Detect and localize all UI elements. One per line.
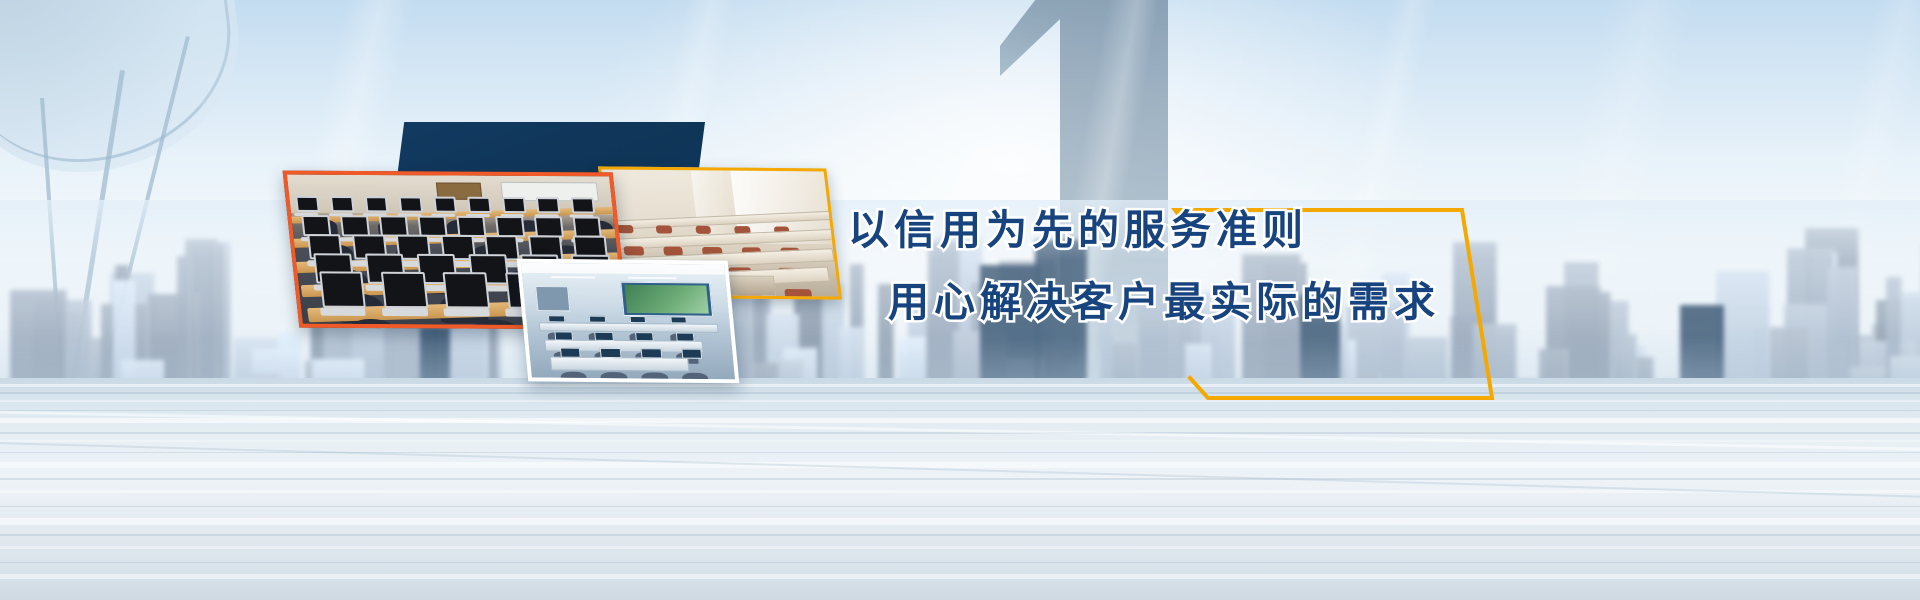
monitor [296, 196, 320, 212]
monitor [418, 216, 448, 237]
headline-line-1: 以信用为先的服务准则 [848, 210, 1308, 251]
headline-block: 以信用为先的服务准则 用心解决客户最实际的需求 [840, 196, 1540, 366]
desk-monitor [630, 316, 647, 323]
desk-monitor [635, 333, 654, 342]
ceiling-light [551, 276, 596, 279]
headline-line-2: 用心解决客户最实际的需求 [888, 282, 1440, 323]
monitor [302, 215, 332, 236]
monitor [495, 216, 525, 237]
plaza-stripe [0, 518, 1920, 525]
plaza-shadow-line [0, 392, 1920, 394]
keyboard [382, 308, 428, 316]
plaza-shadow-line [0, 562, 1920, 563]
photo-collage [290, 110, 850, 400]
plaza-stripe [0, 546, 1920, 549]
classroom-chair [624, 246, 644, 256]
desk-monitor [670, 317, 687, 324]
ceiling-light [628, 276, 677, 279]
plaza-shadow-line [0, 534, 1920, 536]
desk-monitor [595, 332, 614, 341]
side-screen [535, 286, 570, 312]
plaza-shadow-line [0, 452, 1920, 453]
photo-control-room-image [521, 263, 735, 379]
plaza-stripe [0, 400, 1920, 402]
monitor [319, 272, 366, 308]
operator-seat [641, 372, 669, 383]
monitor [399, 197, 423, 213]
hero-banner: 以信用为先的服务准则 用心解决客户最实际的需求 [0, 0, 1920, 600]
monitor [572, 216, 602, 237]
monitor [364, 196, 388, 212]
desk-monitor [600, 348, 621, 358]
monitor [379, 215, 409, 236]
monitor [330, 196, 354, 212]
monitor [502, 197, 526, 213]
keyboard [444, 308, 490, 316]
desk-monitor [560, 348, 581, 358]
plaza-shadow-line [0, 478, 1920, 480]
monitor [443, 272, 490, 308]
desk-monitor [676, 333, 695, 342]
operator-seat [600, 372, 628, 384]
video-wall-map [625, 284, 709, 313]
plaza-stripe [0, 384, 1920, 387]
classroom-chair [617, 225, 633, 233]
desk-monitor [554, 332, 573, 341]
console-desk [550, 357, 689, 372]
plaza-stripe [0, 490, 1920, 493]
desk-monitor [681, 349, 702, 359]
monitor [456, 216, 486, 237]
monitor [467, 197, 491, 213]
ceiling [521, 263, 725, 275]
plaza-shadow-line [0, 506, 1920, 507]
monitor [533, 216, 563, 237]
monitor [536, 197, 560, 213]
desk-monitor [589, 316, 606, 323]
monitor [571, 197, 595, 213]
classroom-chair [784, 289, 812, 300]
monitor [433, 197, 457, 213]
photo-control-room[interactable] [517, 259, 740, 384]
plaza-stripe [0, 462, 1920, 468]
operator-seat [682, 372, 710, 383]
operator-seat [560, 371, 588, 383]
monitor [381, 272, 428, 308]
plaza-stripe [0, 574, 1920, 579]
desk-monitor [548, 316, 565, 323]
classroom-chair [656, 226, 672, 234]
keyboard [320, 308, 366, 316]
desk-monitor [641, 349, 662, 359]
plaza-shadow-line [0, 410, 1920, 411]
classroom-chair [695, 226, 711, 234]
plaza-shadow-line [0, 432, 1920, 434]
monitor [340, 215, 370, 236]
